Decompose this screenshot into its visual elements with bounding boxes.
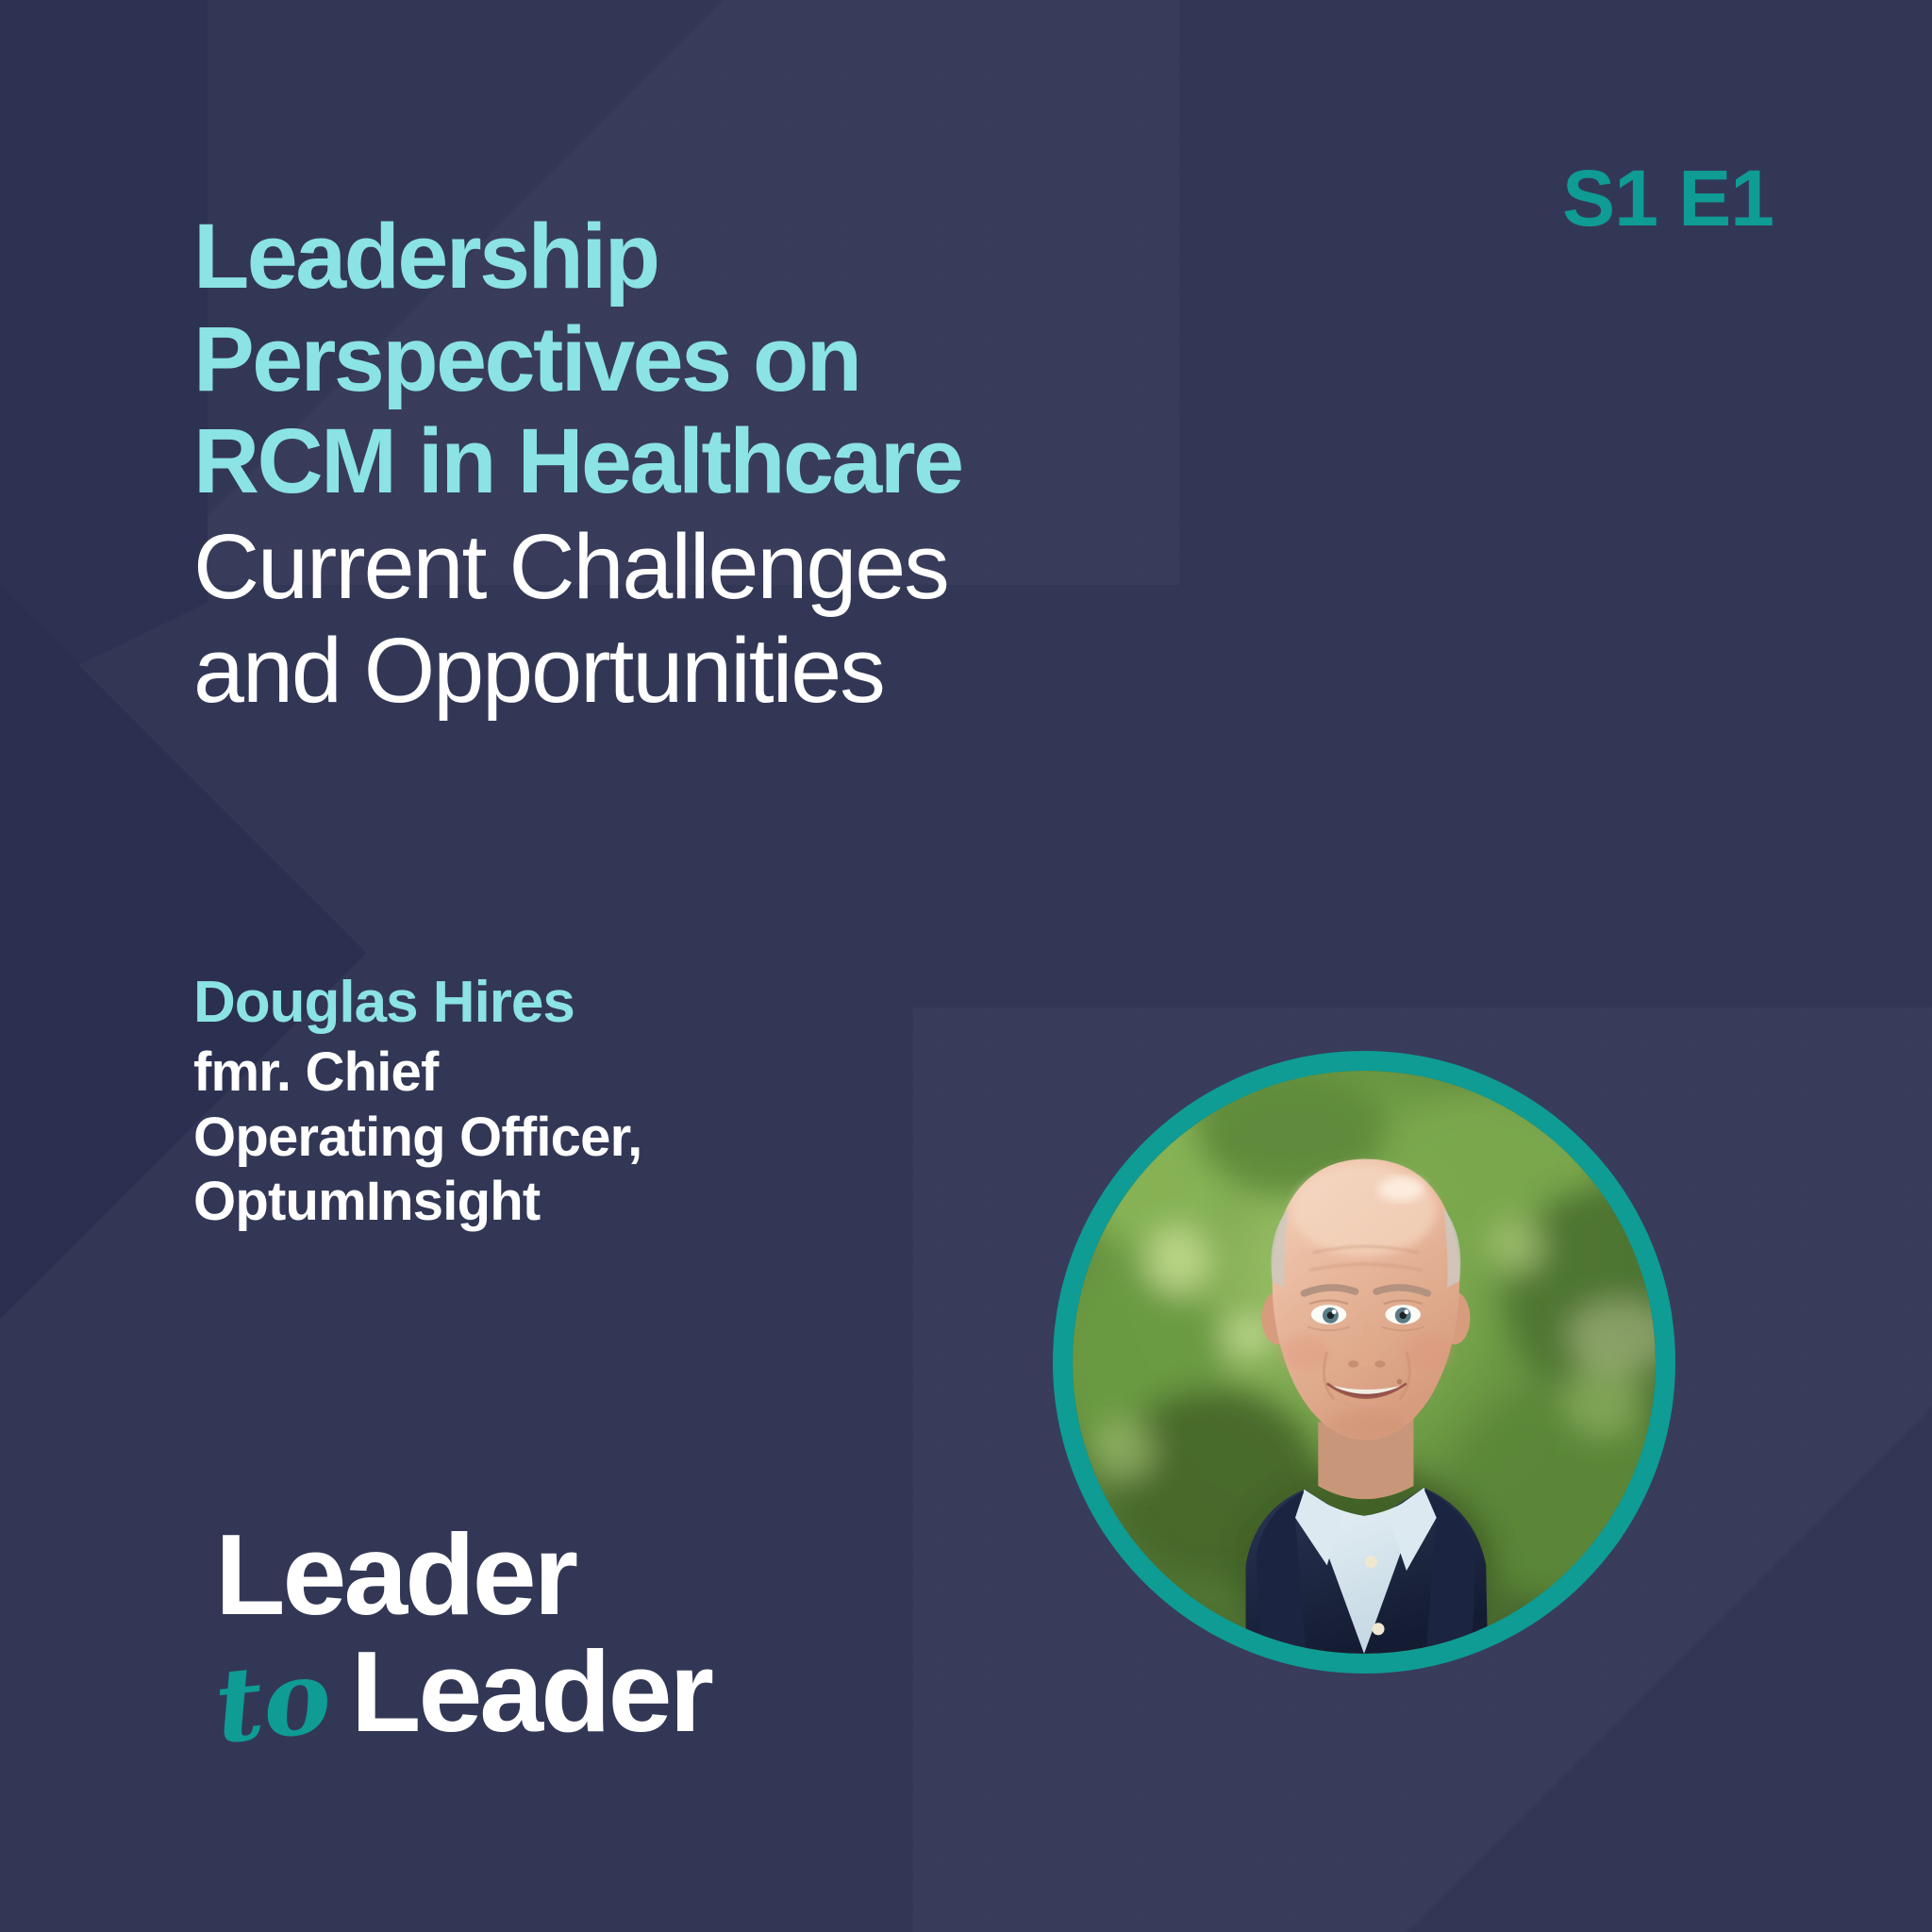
speaker-block: Douglas Hires fmr. Chief Operating Offic… xyxy=(193,970,910,1235)
title-sub-line-1: Current Challenges xyxy=(193,515,1307,620)
headshot-illustration xyxy=(1073,1071,1656,1654)
title-subtitle: Current Challenges and Opportunities xyxy=(193,515,1307,724)
speaker-role: fmr. Chief Operating Officer, OptumInsig… xyxy=(193,1041,910,1234)
avatar-image xyxy=(1073,1071,1656,1654)
logo-connector-to: to xyxy=(211,1651,335,1754)
speaker-role-line-3: OptumInsight xyxy=(193,1170,910,1234)
speaker-name: Douglas Hires xyxy=(193,970,910,1035)
chevron-wedge-upper-left xyxy=(0,0,208,924)
speaker-role-line-2: Operating Officer, xyxy=(193,1106,910,1170)
title-main-line-3: RCM in Healthcare xyxy=(193,410,1307,513)
logo-word-leader-top: Leader xyxy=(215,1521,711,1630)
logo-word-leader-bottom: Leader xyxy=(351,1638,711,1747)
speaker-role-line-1: fmr. Chief xyxy=(193,1041,910,1105)
title-main-line-1: Leadership xyxy=(193,206,1307,308)
title-main-line-2: Perspectives on xyxy=(193,308,1307,411)
logo-second-row: to Leader xyxy=(215,1638,711,1747)
title-main: Leadership Perspectives on RCM in Health… xyxy=(193,206,1307,513)
show-logo: Leader to Leader xyxy=(215,1521,711,1747)
speaker-avatar xyxy=(1053,1051,1675,1674)
podcast-cover: S1 E1 Leadership Perspectives on RCM in … xyxy=(0,0,1932,1932)
season-episode-badge: S1 E1 xyxy=(1562,158,1774,238)
title-sub-line-2: and Opportunities xyxy=(193,619,1307,724)
title-block: Leadership Perspectives on RCM in Health… xyxy=(193,206,1307,724)
